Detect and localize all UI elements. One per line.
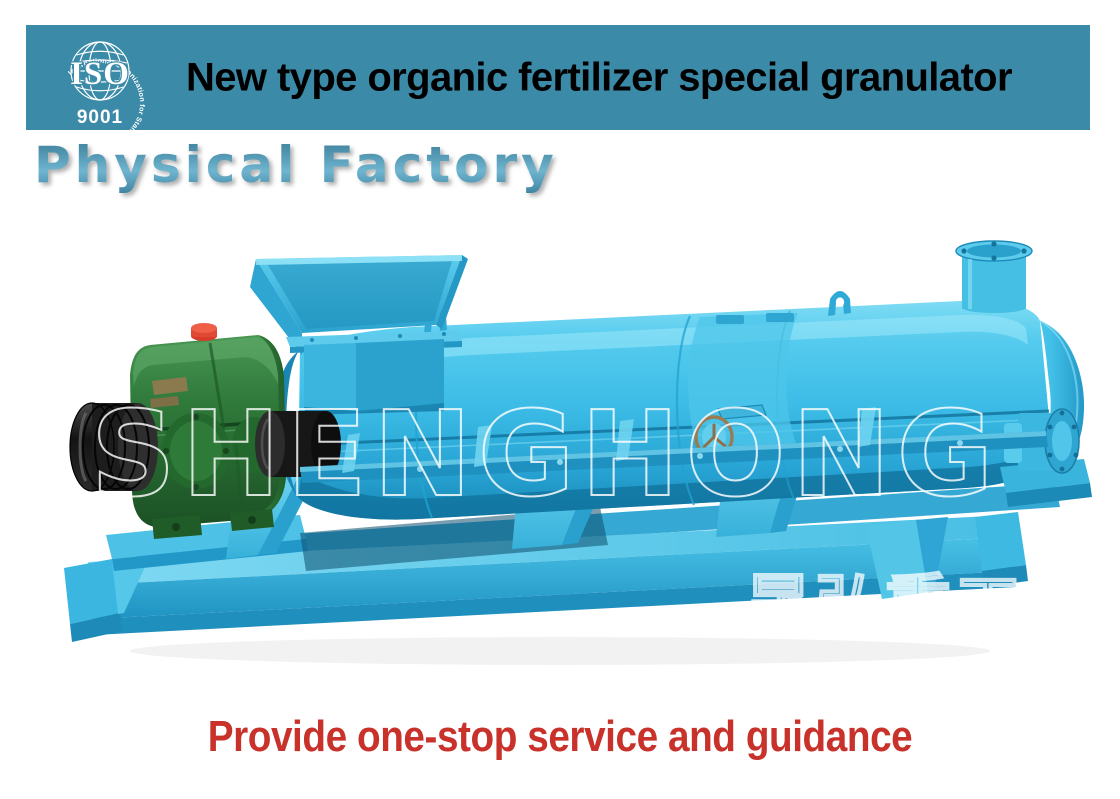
header-banner: International Organization for Standardi… [26,25,1090,130]
footer-tagline: Provide one-stop service and guidance [67,712,1053,762]
iso-9001-logo: International Organization for Standardi… [46,27,154,131]
svg-text:ISO: ISO [70,56,130,92]
headline-physical-factory: Physical Factory [34,136,558,194]
product-photo [0,215,1120,695]
ground-shadow [0,215,1120,695]
iso-globe-icon: International Organization for Standardi… [46,27,154,131]
svg-text:9001: 9001 [77,107,123,128]
page-title: New type organic fertilizer special gran… [186,55,1012,100]
